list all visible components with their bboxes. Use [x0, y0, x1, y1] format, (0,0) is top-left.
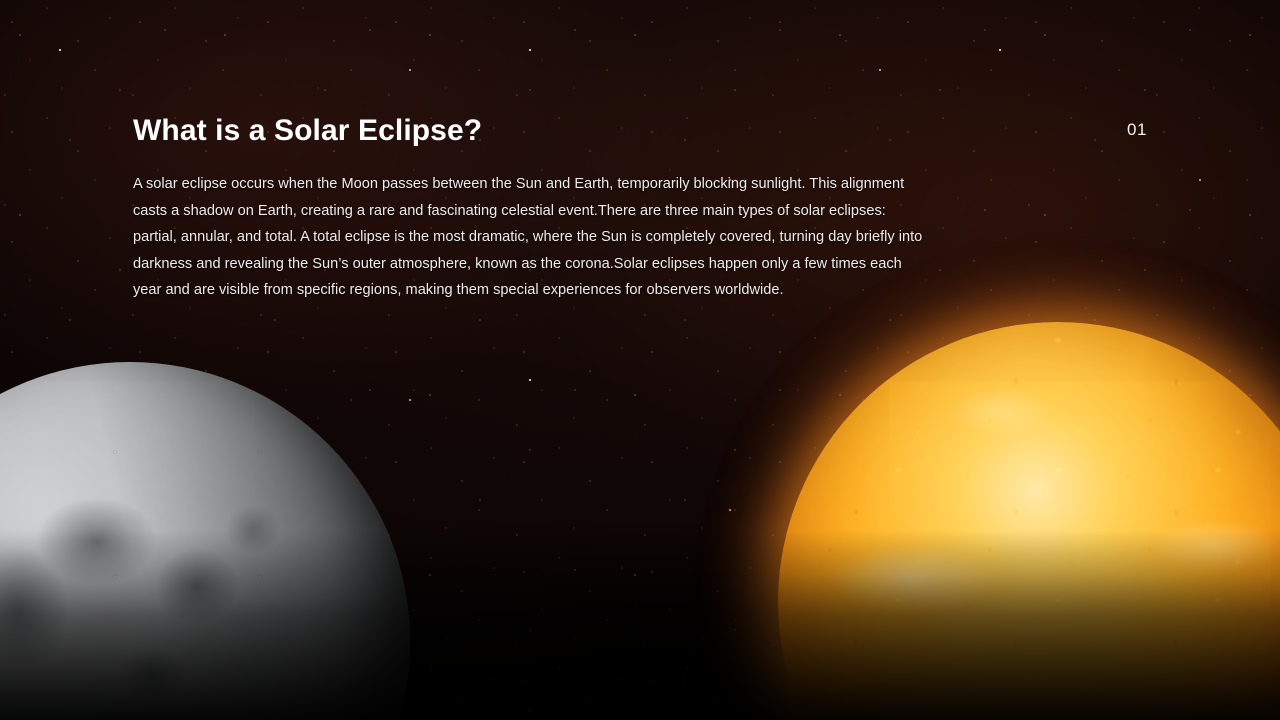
moon-shadow-overlay — [0, 362, 410, 720]
body-paragraph: A solar eclipse occurs when the Moon pas… — [133, 171, 925, 304]
slide-content: What is a Solar Eclipse? A solar eclipse… — [133, 113, 933, 304]
slide-root: What is a Solar Eclipse? A solar eclipse… — [0, 0, 1280, 720]
page-title: What is a Solar Eclipse? — [133, 113, 933, 149]
page-number: 01 — [1127, 120, 1147, 140]
sun-image — [778, 322, 1280, 720]
moon-image — [0, 362, 410, 720]
